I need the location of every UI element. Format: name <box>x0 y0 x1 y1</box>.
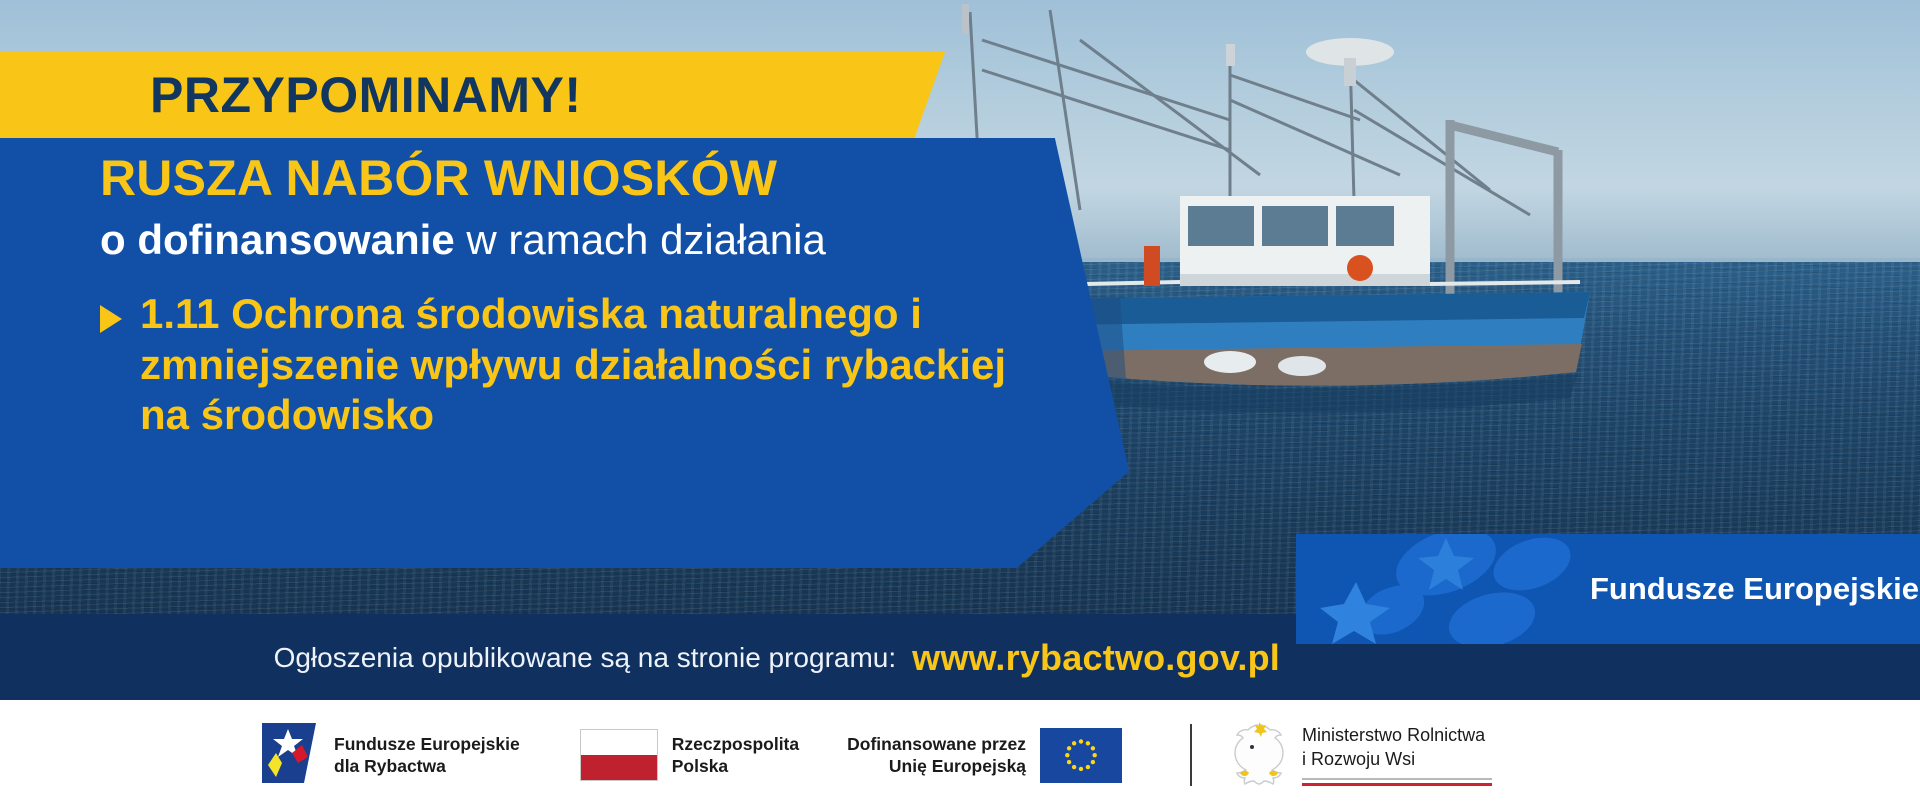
banner-subline-bold: o dofinansowanie <box>100 216 455 263</box>
poland-flag-icon <box>580 729 658 781</box>
logo-divider <box>1190 724 1192 786</box>
logo-caption-line1: Ministerstwo Rolnictwa <box>1302 724 1492 747</box>
program-url-note: Ogłoszenia opublikowane są na stronie pr… <box>274 642 897 674</box>
logo-ministerstwo-rolnictwa-i-rozwoju-wsi: Ministerstwo Rolnictwa i Rozwoju Wsi <box>1228 717 1492 794</box>
triangle-right-icon <box>100 305 122 333</box>
banner-headline: RUSZA NABÓR WNIOSKÓW <box>100 152 1060 205</box>
promotional-banner: PRZYPOMINAMY! RUSZA NABÓR WNIOSKÓW o dof… <box>0 0 1920 810</box>
logo-caption: Fundusze Europejskiedla Rybactwa <box>334 733 520 778</box>
polish-eagle-icon <box>1228 717 1290 794</box>
banner-bullet-text: 1.11 Ochrona środowiska naturalnego i zm… <box>140 289 1060 440</box>
eu-stars-icon <box>1296 534 1574 644</box>
logo-fundusze-europejskie-dla-rybactwa: Fundusze Europejskiedla Rybactwa <box>258 717 520 794</box>
eu-flag-icon <box>1040 728 1122 783</box>
program-url-row: Ogłoszenia opublikowane są na stronie pr… <box>0 616 1280 700</box>
banner-subline: o dofinansowanie w ramach działania <box>100 217 1060 263</box>
fundusze-europejskie-flag-icon <box>258 717 320 794</box>
fundusze-europejskie-badge-label: Fundusze Europejskie <box>1590 571 1919 607</box>
reminder-tab-label: PRZYPOMINAMY! <box>150 70 582 120</box>
banner-copy: RUSZA NABÓR WNIOSKÓW o dofinansowanie w … <box>100 152 1060 440</box>
reminder-tab: PRZYPOMINAMY! <box>0 52 945 138</box>
fundusze-europejskie-badge: Fundusze Europejskie <box>1296 534 1920 644</box>
logo-caption: RzeczpospolitaPolska <box>672 733 799 778</box>
program-url-link[interactable]: www.rybactwo.gov.pl <box>912 637 1280 679</box>
ministry-rule-lines <box>1302 778 1492 786</box>
logo-dofinansowane-przez-unie-europejska: Dofinansowane przezUnię Europejską <box>847 728 1122 783</box>
logo-caption-line2: i Rozwoju Wsi <box>1302 748 1492 771</box>
logo-rzeczpospolita-polska: RzeczpospolitaPolska <box>580 729 799 781</box>
banner-subline-rest: w ramach działania <box>455 216 826 263</box>
banner-bullet: 1.11 Ochrona środowiska naturalnego i zm… <box>100 289 1060 440</box>
logo-caption: Dofinansowane przezUnię Europejską <box>847 733 1026 778</box>
logo-bar: Fundusze Europejskiedla Rybactwa Rzeczpo… <box>0 700 1920 810</box>
